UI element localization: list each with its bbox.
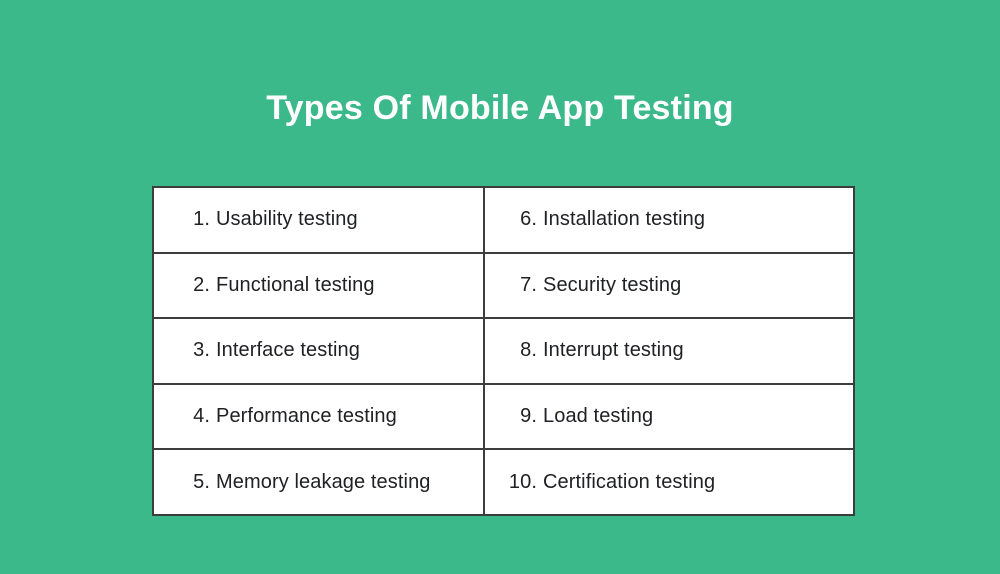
list-item-number: 6. bbox=[507, 208, 537, 231]
list-item-number: 9. bbox=[507, 405, 537, 428]
table-row: 5.Memory leakage testing 10.Certificatio… bbox=[153, 449, 854, 515]
list-item-number: 5. bbox=[180, 471, 210, 494]
table-row: 4.Performance testing 9.Load testing bbox=[153, 384, 854, 450]
table-row: 1.Usability testing 6.Installation testi… bbox=[153, 187, 854, 253]
list-item-label: Certification testing bbox=[543, 471, 715, 493]
list-item: 6.Installation testing bbox=[485, 208, 853, 231]
list-item-label: Interrupt testing bbox=[543, 339, 684, 361]
list-item-label: Usability testing bbox=[216, 208, 358, 230]
list-item-label: Installation testing bbox=[543, 208, 705, 230]
list-item-label: Interface testing bbox=[216, 339, 360, 361]
list-item-number: 10. bbox=[507, 471, 537, 494]
list-item-label: Security testing bbox=[543, 274, 681, 296]
table-cell-type-6: 6.Installation testing bbox=[484, 187, 854, 253]
testing-types-table: 1.Usability testing 6.Installation testi… bbox=[152, 186, 855, 516]
table-cell-type-2: 2.Functional testing bbox=[153, 253, 484, 319]
table-cell-type-9: 9.Load testing bbox=[484, 384, 854, 450]
table-cell-type-1: 1.Usability testing bbox=[153, 187, 484, 253]
page-title: Types Of Mobile App Testing bbox=[0, 86, 1000, 130]
list-item: 5.Memory leakage testing bbox=[154, 471, 483, 494]
list-item: 7.Security testing bbox=[485, 274, 853, 297]
list-item: 1.Usability testing bbox=[154, 208, 483, 231]
list-item-label: Performance testing bbox=[216, 405, 397, 427]
list-item: 4.Performance testing bbox=[154, 405, 483, 428]
table-cell-type-8: 8.Interrupt testing bbox=[484, 318, 854, 384]
list-item-number: 1. bbox=[180, 208, 210, 231]
testing-types-table-wrapper: 1.Usability testing 6.Installation testi… bbox=[152, 186, 849, 504]
table-cell-type-3: 3.Interface testing bbox=[153, 318, 484, 384]
list-item-number: 3. bbox=[180, 339, 210, 362]
list-item-label: Load testing bbox=[543, 405, 653, 427]
table-cell-type-4: 4.Performance testing bbox=[153, 384, 484, 450]
list-item: 10.Certification testing bbox=[485, 471, 853, 494]
list-item-label: Memory leakage testing bbox=[216, 471, 431, 493]
list-item: 3.Interface testing bbox=[154, 339, 483, 362]
list-item: 8.Interrupt testing bbox=[485, 339, 853, 362]
list-item-number: 8. bbox=[507, 339, 537, 362]
table-cell-type-7: 7.Security testing bbox=[484, 253, 854, 319]
list-item-number: 7. bbox=[507, 274, 537, 297]
list-item: 2.Functional testing bbox=[154, 274, 483, 297]
list-item-number: 2. bbox=[180, 274, 210, 297]
poster-canvas: Types Of Mobile App Testing 1.Usability … bbox=[0, 0, 1000, 574]
list-item-label: Functional testing bbox=[216, 274, 375, 296]
table-cell-type-5: 5.Memory leakage testing bbox=[153, 449, 484, 515]
list-item-number: 4. bbox=[180, 405, 210, 428]
table-row: 2.Functional testing 7.Security testing bbox=[153, 253, 854, 319]
table-row: 3.Interface testing 8.Interrupt testing bbox=[153, 318, 854, 384]
table-body: 1.Usability testing 6.Installation testi… bbox=[153, 187, 854, 515]
table-cell-type-10: 10.Certification testing bbox=[484, 449, 854, 515]
list-item: 9.Load testing bbox=[485, 405, 853, 428]
